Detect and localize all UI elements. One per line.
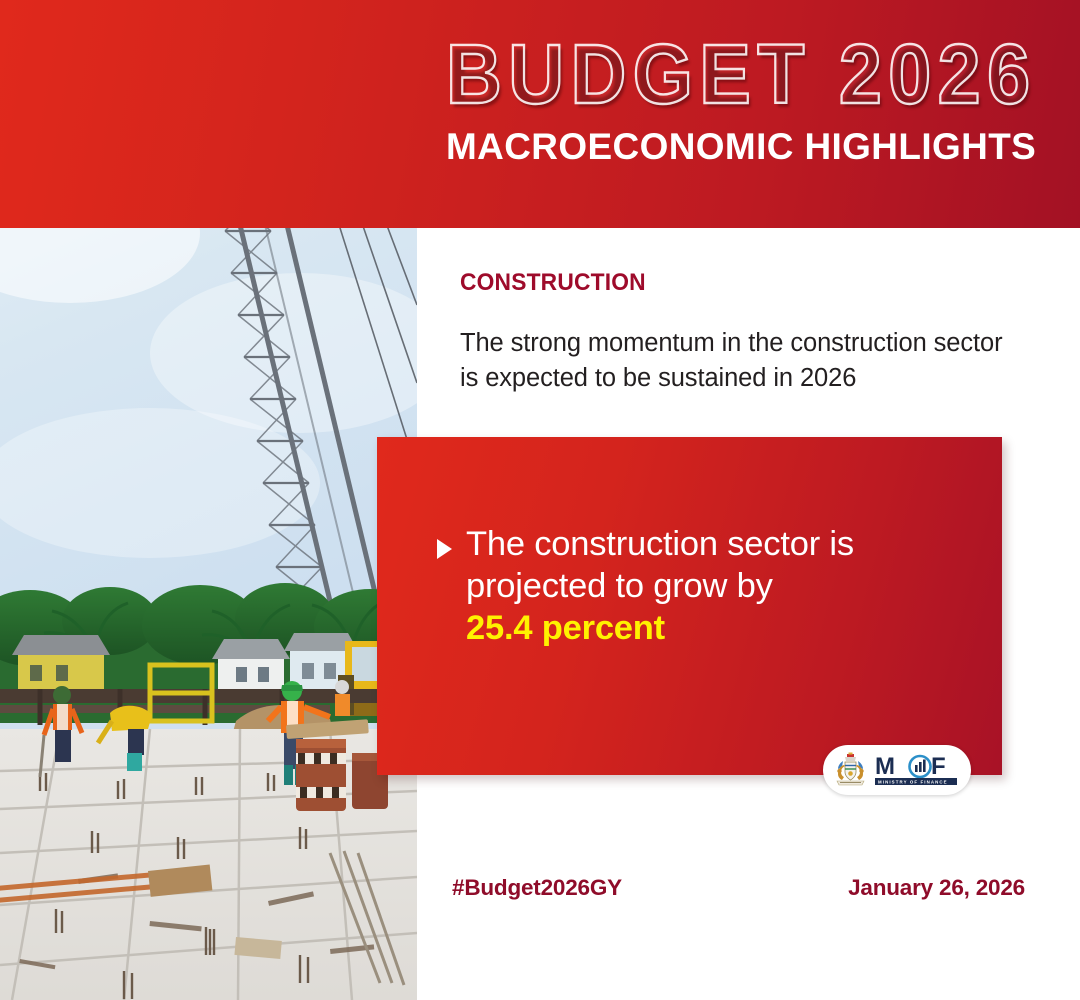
mof-wordmark: M F MINISTRY OF FINANCE [875, 754, 957, 787]
mof-tagline: MINISTRY OF FINANCE [878, 779, 948, 784]
mof-letter-f: F [931, 754, 946, 780]
callout-line-2: projected to grow by [466, 567, 773, 605]
guyana-coat-of-arms-icon [834, 752, 867, 788]
page-subtitle: MACROECONOMIC HIGHLIGHTS [446, 125, 1037, 168]
campaign-hashtag: #Budget2026GY [452, 875, 622, 901]
ministry-of-finance-logo-badge: M F MINISTRY OF FINANCE [823, 745, 971, 795]
poster-header-band: BUDGET 2026 MACROECONOMIC HIGHLIGHTS [0, 0, 1080, 228]
callout-content: The construction sector is projected to … [437, 523, 957, 649]
callout-highlight-value: 25.4 percent [466, 607, 957, 649]
budget-highlight-poster: BUDGET 2026 MACROECONOMIC HIGHLIGHTS CON… [0, 0, 1080, 1000]
triangle-right-icon [437, 539, 452, 559]
highlight-callout: The construction sector is projected to … [377, 437, 1002, 775]
section-heading: CONSTRUCTION [460, 269, 646, 297]
publication-date: January 26, 2026 [848, 875, 1025, 901]
poster-footer: #Budget2026GY January 26, 2026 [417, 865, 1080, 920]
section-description: The strong momentum in the construction … [460, 326, 1020, 396]
callout-text-block: The construction sector is projected to … [466, 523, 957, 649]
callout-line-1: The construction sector is [466, 525, 854, 563]
header-text-group: BUDGET 2026 MACROECONOMIC HIGHLIGHTS [446, 34, 1046, 168]
mof-letter-m: M [875, 754, 895, 780]
page-title: BUDGET 2026 [446, 34, 998, 115]
